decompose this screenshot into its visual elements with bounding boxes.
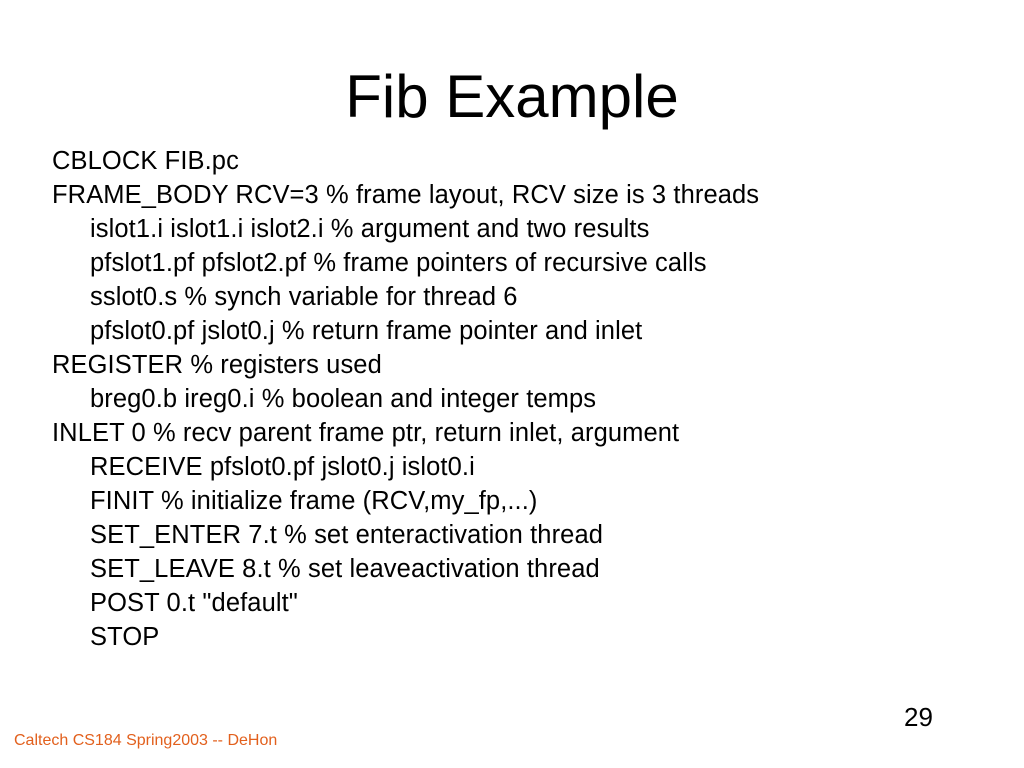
page-title: Fib Example: [0, 62, 1024, 132]
code-line: INLET 0 % recv parent frame ptr, return …: [52, 416, 982, 450]
page-number: 29: [904, 701, 933, 733]
code-line: pfslot1.pf pfslot2.pf % frame pointers o…: [52, 246, 982, 280]
code-line: SET_ENTER 7.t % set enteractivation thre…: [52, 518, 982, 552]
presentation-slide: Fib Example CBLOCK FIB.pcFRAME_BODY RCV=…: [0, 0, 1024, 768]
code-line: STOP: [52, 620, 982, 654]
code-line: islot1.i islot1.i islot2.i % argument an…: [52, 212, 982, 246]
code-line: SET_LEAVE 8.t % set leaveactivation thre…: [52, 552, 982, 586]
code-line: FRAME_BODY RCV=3 % frame layout, RCV siz…: [52, 178, 982, 212]
code-line: REGISTER % registers used: [52, 348, 982, 382]
code-line: pfslot0.pf jslot0.j % return frame point…: [52, 314, 982, 348]
code-line: POST 0.t "default": [52, 586, 982, 620]
code-line: RECEIVE pfslot0.pf jslot0.j islot0.i: [52, 450, 982, 484]
code-line: sslot0.s % synch variable for thread 6: [52, 280, 982, 314]
code-line: CBLOCK FIB.pc: [52, 144, 982, 178]
code-listing: CBLOCK FIB.pcFRAME_BODY RCV=3 % frame la…: [52, 144, 982, 654]
footer-credit: Caltech CS184 Spring2003 -- DeHon: [14, 731, 277, 751]
code-line: breg0.b ireg0.i % boolean and integer te…: [52, 382, 982, 416]
code-line: FINIT % initialize frame (RCV,my_fp,...): [52, 484, 982, 518]
